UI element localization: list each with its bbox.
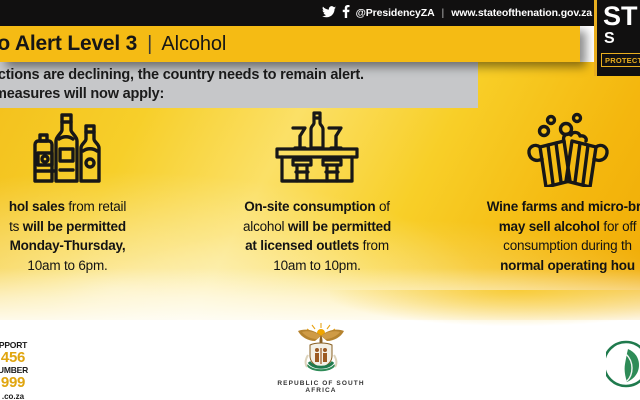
retail-line-4: 10am to 6pm. [0,256,190,276]
badge-protect-label: PROTECT [601,53,640,67]
footer: PPORT 456 UMBER 999 .co.za [0,320,640,400]
onsite-line-4: 10am to 10pm. [202,256,432,276]
beer-mugs-cheers-icon [440,108,640,188]
presidency-handle[interactable]: @PresidencyZA [356,7,435,19]
wine-line-1: Wine farms and micro-bre [440,197,640,217]
social-handles: @PresidencyZA | www.stateofthenation.gov… [322,0,592,26]
badge-line-2: S [604,31,615,47]
coat-of-arms-caption: REPUBLIC OF SOUTH AFRICA [276,380,366,394]
measures-columns: hol sales from retail ts will be permitt… [0,108,640,308]
onsite-line-1: On-site consumption of [202,197,432,217]
retail-line-2: ts will be permitted [0,217,190,237]
column-wine-text: Wine farms and micro-bre may sell alcoho… [440,197,640,275]
wine-line-2: may sell alcohol for off [440,217,640,237]
coat-of-arms-block: REPUBLIC OF SOUTH AFRICA [276,322,366,394]
bar-counter-stools-icon [202,108,432,188]
retail-line-3: Monday-Thursday, [0,236,190,256]
onsite-line-2: alcohol will be permitted [202,217,432,237]
liquor-bottles-icon [0,108,190,188]
alert-level-poster: @PresidencyZA | www.stateofthenation.gov… [0,0,640,400]
retail-line-1: hol sales from retail [0,197,190,217]
facebook-f-icon[interactable] [342,5,350,21]
support-number-2: 999 [0,375,50,390]
support-website: .co.za [0,391,50,400]
wine-line-4: normal operating hou [440,256,640,276]
support-number-1: 456 [0,350,50,365]
onsite-line-3: at licensed outlets from [202,236,432,256]
column-retail-sales: hol sales from retail ts will be permitt… [0,108,190,275]
wine-line-3: consumption during th [440,236,640,256]
title-category: Alcohol [161,33,226,56]
south-africa-coat-of-arms-icon [291,322,351,374]
column-retail-text: hol sales from retail ts will be permitt… [0,197,190,275]
website-link[interactable]: www.stateofthenation.gov.za [451,7,592,19]
top-social-bar: @PresidencyZA | www.stateofthenation.gov… [0,0,640,26]
column-onsite-consumption: On-site consumption of alcohol will be p… [202,108,432,275]
twitter-bird-icon[interactable] [322,6,336,21]
title-divider: | [147,33,152,56]
badge-line-1: ST [603,3,638,30]
page-title: es to Alert Level 3 [0,32,137,56]
column-onsite-text: On-site consumption of alcohol will be p… [202,197,432,275]
subtitle-line-2: wing measures will now apply: [0,85,364,104]
title-band: es to Alert Level 3 | Alcohol [0,26,580,62]
support-hotline-block: PPORT 456 UMBER 999 .co.za [0,340,50,400]
social-separator: | [442,7,445,19]
stay-safe-badge: ST S PROTECT [594,0,640,76]
column-wine-farms: Wine farms and micro-bre may sell alcoho… [440,108,640,275]
subtitle-line-1: w infections are declining, the country … [0,66,364,85]
green-circle-logo-icon [606,336,640,392]
subtitle-panel: w infections are declining, the country … [0,62,478,108]
